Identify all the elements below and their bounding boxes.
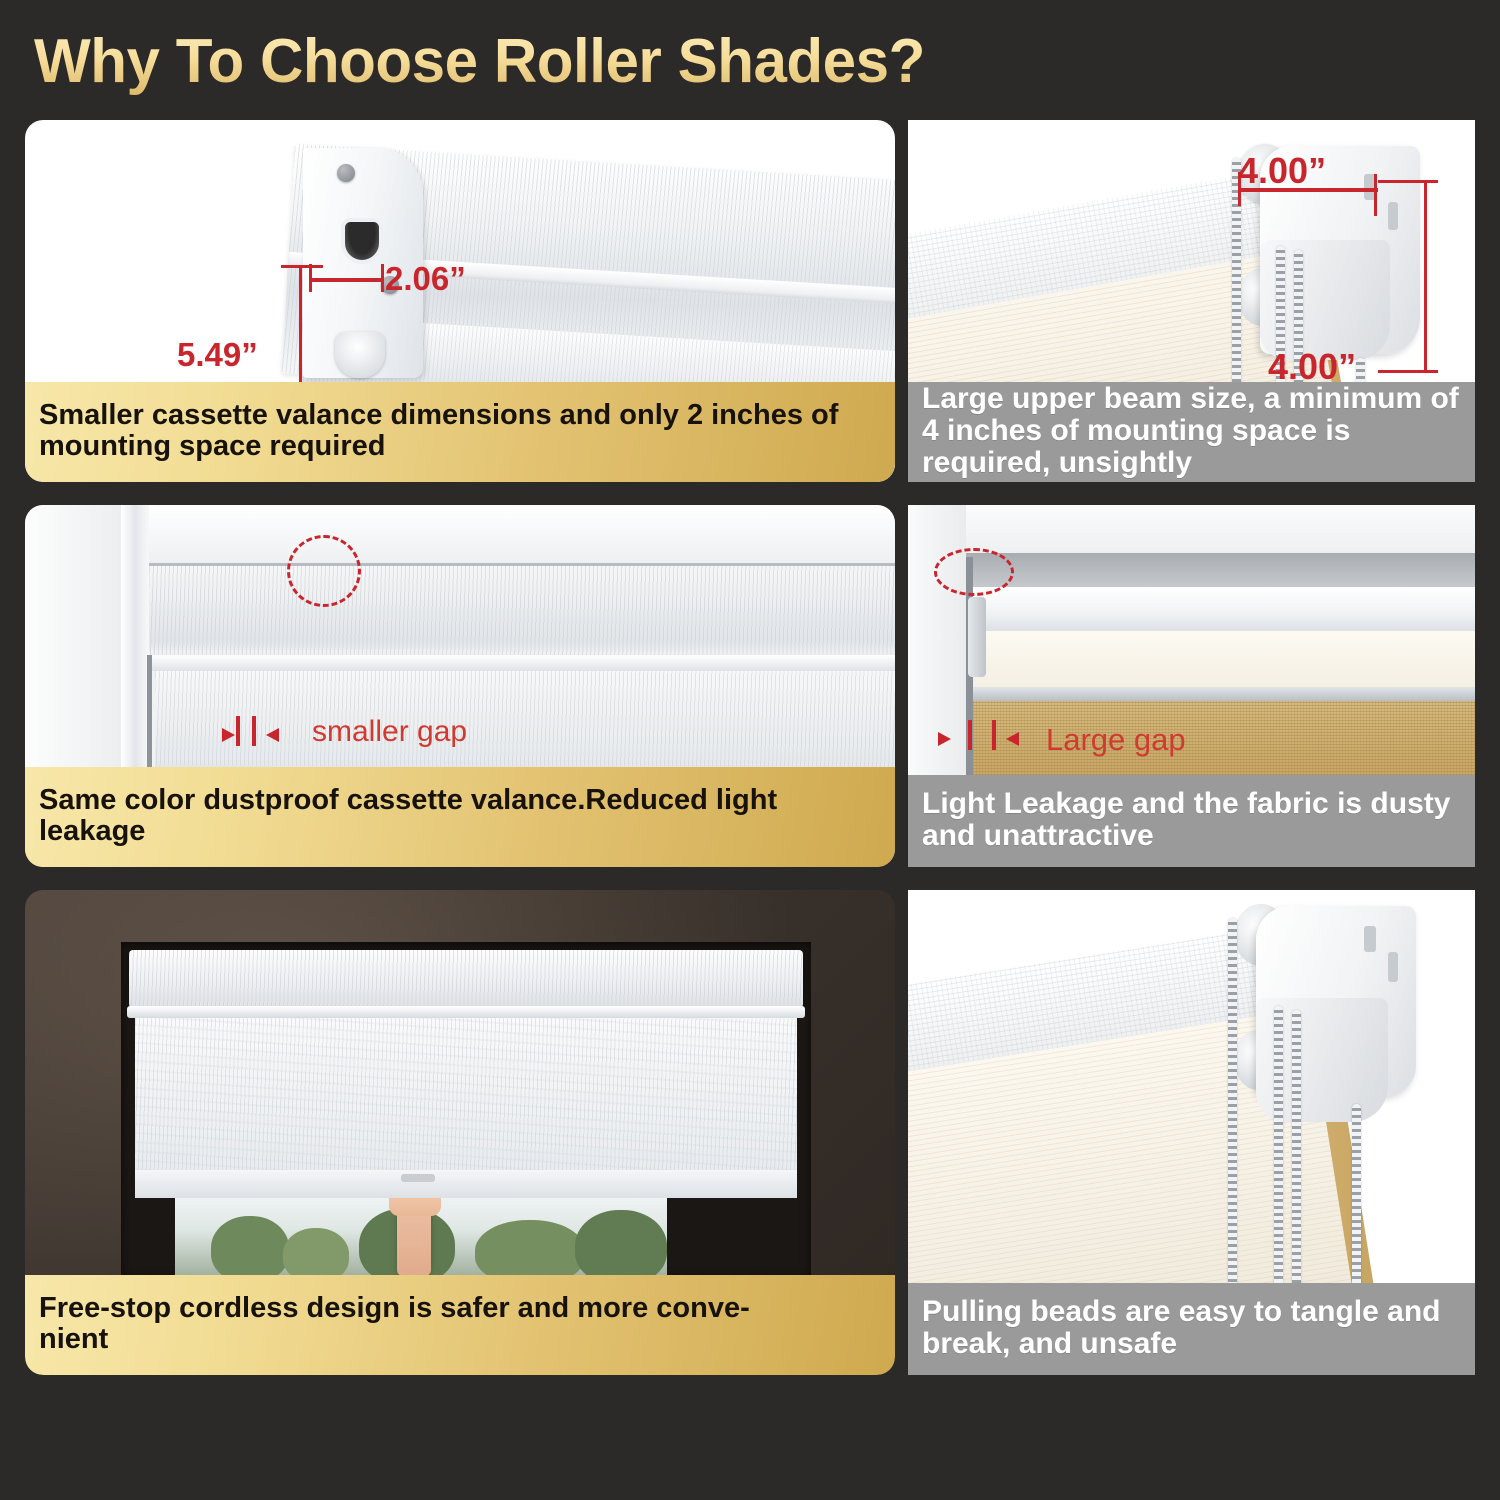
valance-lip bbox=[147, 655, 895, 671]
screw-icon bbox=[337, 164, 355, 182]
wall-surface bbox=[25, 505, 121, 767]
shadow-band bbox=[966, 553, 1475, 591]
tree bbox=[575, 1210, 667, 1278]
end-cap-slot bbox=[341, 218, 383, 264]
tree bbox=[475, 1220, 585, 1278]
panel-caption-line-1: Free-stop cordless design is safer and m… bbox=[39, 1293, 750, 1324]
height-dimension-label: 5.49” bbox=[177, 336, 258, 374]
height-dimension-tick-top bbox=[1378, 180, 1438, 183]
height-dimension-tick-bottom bbox=[1378, 370, 1438, 373]
tree bbox=[211, 1216, 289, 1278]
cassette-valance bbox=[149, 563, 895, 659]
end-cap-knob bbox=[335, 332, 385, 378]
shade-fabric bbox=[155, 671, 895, 767]
gap-tick-right bbox=[252, 716, 256, 746]
cassette-valance bbox=[129, 950, 803, 1008]
width-dimension-line bbox=[311, 278, 383, 282]
bracket-slot bbox=[1364, 926, 1376, 952]
gap-arrow-right-icon bbox=[938, 732, 951, 746]
height-dimension-line bbox=[1424, 182, 1427, 372]
panel-cordless-design: Free-stop cordless design is safer and m… bbox=[25, 890, 895, 1375]
gap-tick-left bbox=[968, 720, 972, 750]
shade-fabric-cream bbox=[966, 631, 1475, 689]
panel-caption-line-2: nient bbox=[39, 1324, 750, 1355]
panel-caption: Free-stop cordless design is safer and m… bbox=[25, 1275, 895, 1375]
gap-edge bbox=[147, 655, 152, 767]
pull-tab bbox=[401, 1174, 435, 1182]
panel-large-beam: 4.00” 4.00” Large upper beam size, a min… bbox=[908, 120, 1475, 482]
width-dimension-label: 4.00” bbox=[1238, 150, 1326, 192]
valance-lip bbox=[127, 1006, 805, 1018]
tree bbox=[283, 1228, 349, 1278]
gap-arrow-right-icon bbox=[222, 728, 235, 742]
page-title: Why To Choose Roller Shades? bbox=[34, 22, 1101, 102]
bracket-slot bbox=[1388, 202, 1398, 230]
mounting-clip bbox=[968, 597, 986, 677]
wall-surface bbox=[908, 505, 966, 775]
bracket-slot bbox=[1388, 952, 1398, 982]
gap-label: smaller gap bbox=[312, 715, 467, 749]
shade-bottom-rail bbox=[135, 1170, 797, 1198]
window-header bbox=[149, 505, 895, 563]
gap-label: Large gap bbox=[1046, 722, 1186, 758]
gap-tick-left bbox=[236, 716, 240, 746]
highlight-circle-icon bbox=[934, 548, 1014, 596]
ceiling-surface bbox=[908, 505, 1475, 553]
panel-caption: Pulling beads are easy to tangle and bre… bbox=[908, 1283, 1475, 1375]
width-dimension-tick-left bbox=[309, 264, 312, 292]
panel-pulling-beads: Pulling beads are easy to tangle and bre… bbox=[908, 890, 1475, 1375]
gap-arrow-left-icon bbox=[1006, 732, 1019, 746]
gap-tick-right bbox=[992, 720, 996, 750]
width-dimension-tick-right bbox=[1374, 174, 1377, 216]
highlight-circle-icon bbox=[287, 535, 361, 607]
gap-arrow-left-icon bbox=[266, 728, 279, 742]
width-dimension-tick-right bbox=[381, 264, 384, 292]
width-dimension-label: 2.06” bbox=[385, 260, 466, 298]
panel-caption: Light Leakage and the fabric is dusty an… bbox=[908, 775, 1475, 867]
shade-rail bbox=[966, 687, 1475, 701]
window-frame bbox=[121, 505, 149, 767]
panel-caption: Large upper beam size, a minimum of 4 in… bbox=[908, 382, 1475, 482]
panel-smaller-cassette: 2.06” 5.49” Smaller cassette valance dim… bbox=[25, 120, 895, 482]
height-dimension-tick-top bbox=[281, 265, 323, 268]
shade-fabric bbox=[135, 1018, 797, 1170]
panel-caption: Smaller cassette valance dimensions and … bbox=[25, 382, 895, 482]
roller-tube bbox=[966, 587, 1475, 635]
panel-caption: Same color dustproof cassette valance.Re… bbox=[25, 767, 895, 867]
